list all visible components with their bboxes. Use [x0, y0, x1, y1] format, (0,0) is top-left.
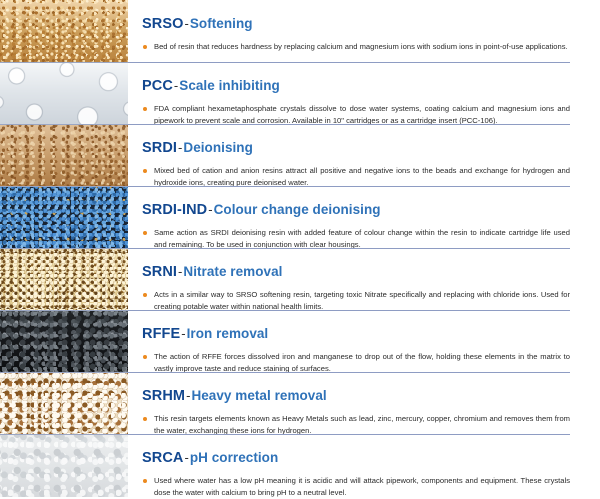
product-descriptor: Iron removal	[187, 326, 269, 341]
swatch-grain	[0, 62, 128, 125]
product-code: SRHM	[142, 388, 185, 404]
bullet-item: Used where water has a low pH meaning it…	[142, 475, 570, 499]
swatch-grain	[0, 372, 128, 435]
product-content: SRCA-pH correction Used where water has …	[128, 434, 600, 496]
product-code: SRSO	[142, 16, 184, 32]
product-image-srdi-ind	[0, 186, 128, 249]
product-image-srhm	[0, 372, 128, 435]
bullet-dot-icon	[143, 479, 147, 483]
section-divider	[128, 372, 570, 373]
product-code: SRCA	[142, 450, 184, 466]
product-content: RFFE-Iron removal The action of RFFE for…	[128, 310, 600, 372]
product-heading: SRDI-Deionising	[142, 132, 570, 159]
product-row: SRDI-Deionising Mixed bed of cation and …	[0, 124, 600, 186]
product-row: SRHM-Heavy metal removal This resin targ…	[0, 372, 600, 434]
product-range-sheet: SRSO-Softening Bed of resin that reduces…	[0, 0, 600, 496]
product-row: SRDI-IND-Colour change deionising Same a…	[0, 186, 600, 248]
swatch-grain	[0, 310, 128, 373]
product-bullets: Bed of resin that reduces hardness by re…	[142, 41, 570, 53]
bullet-dot-icon	[143, 45, 147, 49]
product-code: SRDI	[142, 140, 177, 156]
product-image-srca	[0, 434, 128, 497]
product-row: SRSO-Softening Bed of resin that reduces…	[0, 0, 600, 62]
product-heading: SRNI-Nitrate removal	[142, 256, 570, 283]
product-row: SRNI-Nitrate removal Acts in a similar w…	[0, 248, 600, 310]
product-content: PCC-Scale inhibiting FDA compliant hexam…	[128, 62, 600, 124]
swatch-grain	[0, 0, 128, 62]
section-divider	[128, 248, 570, 249]
product-row: PCC-Scale inhibiting FDA compliant hexam…	[0, 62, 600, 124]
bullet-dot-icon	[143, 417, 147, 421]
section-divider	[128, 124, 570, 125]
product-descriptor: Softening	[190, 16, 253, 31]
product-image-pcc	[0, 62, 128, 125]
product-content: SRSO-Softening Bed of resin that reduces…	[128, 0, 600, 62]
product-heading: RFFE-Iron removal	[142, 318, 570, 345]
bullet-text: Mixed bed of cation and anion resins att…	[154, 166, 570, 187]
product-row: RFFE-Iron removal The action of RFFE for…	[0, 310, 600, 372]
bullet-text: Same action as SRDI deionising resin wit…	[154, 228, 570, 249]
bullet-dot-icon	[143, 107, 147, 111]
product-content: SRDI-IND-Colour change deionising Same a…	[128, 186, 600, 248]
product-code: PCC	[142, 78, 173, 94]
bullet-text: Bed of resin that reduces hardness by re…	[154, 42, 568, 51]
bullet-text: This resin targets elements known as Hea…	[154, 414, 570, 435]
product-descriptor: Heavy metal removal	[191, 388, 326, 403]
swatch-grain	[0, 248, 128, 311]
bullet-dot-icon	[143, 355, 147, 359]
product-descriptor: Colour change deionising	[214, 202, 381, 217]
product-heading: SRSO-Softening	[142, 8, 570, 35]
product-image-srni	[0, 248, 128, 311]
bullet-dot-icon	[143, 293, 147, 297]
section-divider	[128, 310, 570, 311]
product-content: SRHM-Heavy metal removal This resin targ…	[128, 372, 600, 434]
product-row: SRCA-pH correction Used where water has …	[0, 434, 600, 496]
product-heading: SRDI-IND-Colour change deionising	[142, 194, 570, 221]
product-image-rffe	[0, 310, 128, 373]
product-bullets: Used where water has a low pH meaning it…	[142, 475, 570, 499]
swatch-grain	[0, 186, 128, 249]
product-descriptor: Deionising	[183, 140, 253, 155]
swatch-grain	[0, 124, 128, 187]
product-descriptor: pH correction	[190, 450, 278, 465]
bullet-text: FDA compliant hexametaphosphate crystals…	[154, 104, 570, 125]
product-content: SRDI-Deionising Mixed bed of cation and …	[128, 124, 600, 186]
product-heading: PCC-Scale inhibiting	[142, 70, 570, 97]
bullet-dot-icon	[143, 169, 147, 173]
section-divider	[128, 434, 570, 435]
bullet-item: Bed of resin that reduces hardness by re…	[142, 41, 570, 53]
section-divider	[128, 186, 570, 187]
product-code: SRDI-IND	[142, 202, 207, 218]
product-descriptor: Scale inhibiting	[179, 78, 280, 93]
swatch-grain	[0, 434, 128, 497]
product-content: SRNI-Nitrate removal Acts in a similar w…	[128, 248, 600, 310]
section-divider	[128, 62, 570, 63]
bullet-text: Acts in a similar way to SRSO softening …	[154, 290, 570, 311]
product-heading: SRCA-pH correction	[142, 442, 570, 469]
product-image-srso	[0, 0, 128, 62]
product-code: SRNI	[142, 264, 177, 280]
bullet-text: The action of RFFE forces dissolved iron…	[154, 352, 570, 373]
bullet-dot-icon	[143, 231, 147, 235]
product-descriptor: Nitrate removal	[183, 264, 282, 279]
bullet-text: Used where water has a low pH meaning it…	[154, 476, 570, 497]
product-heading: SRHM-Heavy metal removal	[142, 380, 570, 407]
product-image-srdi	[0, 124, 128, 187]
product-code: RFFE	[142, 326, 180, 342]
